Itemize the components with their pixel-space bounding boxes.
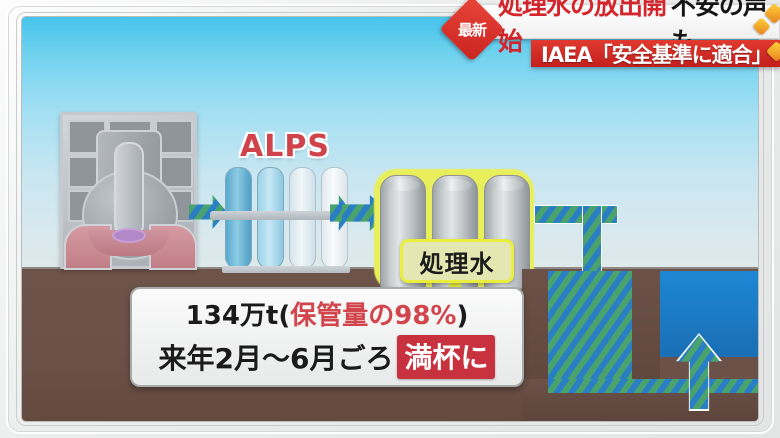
info-panel-line-1: 134万t(保管量の98%) (132, 295, 522, 332)
reactor-building (60, 112, 197, 269)
alps-base-platform (222, 266, 350, 273)
capacity-percent: 保管量の98% (290, 301, 456, 331)
volume-value: 134万t (186, 301, 279, 331)
info-panel-line-2: 来年2月～6月ごろ満杯に (132, 335, 522, 379)
treated-water-label: 処理水 (403, 242, 511, 280)
latest-badge-label: 最新 (449, 6, 495, 52)
undersea-tunnel (548, 379, 758, 393)
headline-primary: 処理水の放出開始不安の声も (471, 4, 780, 39)
timeframe-text: 来年2月～6月ごろ (159, 337, 394, 377)
diagram-scene: ALPS 処理水 (22, 17, 758, 421)
info-panel: 134万t(保管量の98%) 来年2月～6月ごろ満杯に (130, 287, 524, 387)
tank-top (490, 179, 524, 191)
headline-secondary-text: IAEA「安全基準に適合」 (541, 39, 772, 69)
storage-tank-group: 処理水 (380, 175, 528, 287)
headline-secondary: IAEA「安全基準に適合」 (531, 40, 780, 67)
tv-news-screenshot: ALPS 処理水 (0, 0, 780, 438)
discharge-basin-water (548, 271, 632, 391)
reactor-fuel-debris-icon (112, 228, 146, 243)
paren-close: ) (456, 301, 468, 331)
paren-open: ( (278, 301, 290, 331)
tank-top (386, 179, 420, 191)
alps-label: ALPS (225, 129, 345, 164)
treated-water-callout: 処理水 (400, 239, 514, 283)
tank-top (438, 179, 472, 191)
discharge-pipe-horizontal (534, 205, 618, 224)
full-capacity-badge: 満杯に (397, 335, 495, 379)
reactor-core-rod (114, 142, 144, 238)
news-banner: 処理水の放出開始不安の声も IAEA「安全基準に適合」 最新 (435, 4, 780, 70)
